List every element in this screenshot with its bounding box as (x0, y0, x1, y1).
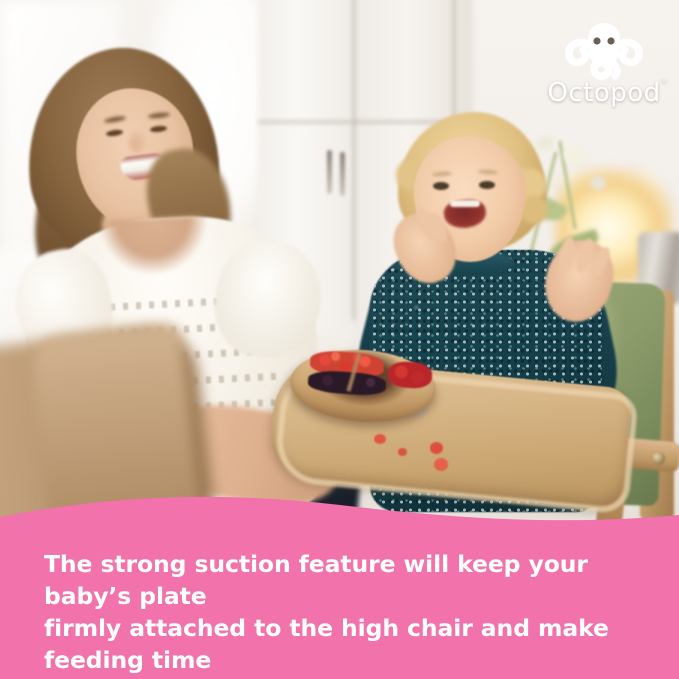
registered-trademark-icon: ® (661, 76, 667, 85)
food-crumb (398, 448, 407, 456)
food-crumb (434, 458, 448, 471)
highchair-bolt (652, 452, 665, 465)
caption-line-1: The strong suction feature will keep you… (44, 548, 644, 612)
product-marketing-image: Octopod ® The strong suction feature wil… (0, 0, 679, 679)
food-crumb (430, 442, 443, 454)
brand-logo: Octopod ® (543, 18, 665, 118)
cabinet-seam (258, 120, 458, 124)
flower (564, 146, 586, 164)
cabinet-seam (352, 0, 356, 320)
baby-teeth (450, 200, 480, 207)
octopus-icon (561, 18, 647, 80)
mother-nose (128, 131, 146, 153)
brand-wordmark: Octopod (543, 80, 665, 106)
flower (590, 176, 606, 190)
baby-eye (479, 181, 495, 189)
flower (536, 136, 554, 151)
cabinet-handle-icon (340, 152, 345, 196)
caption-line-2: firmly attached to the high chair and ma… (44, 612, 644, 676)
baby-eye (433, 182, 449, 190)
caption-text: The strong suction feature will keep you… (44, 548, 644, 679)
food-crumb (374, 434, 386, 444)
cabinet-handle-icon (327, 150, 332, 194)
